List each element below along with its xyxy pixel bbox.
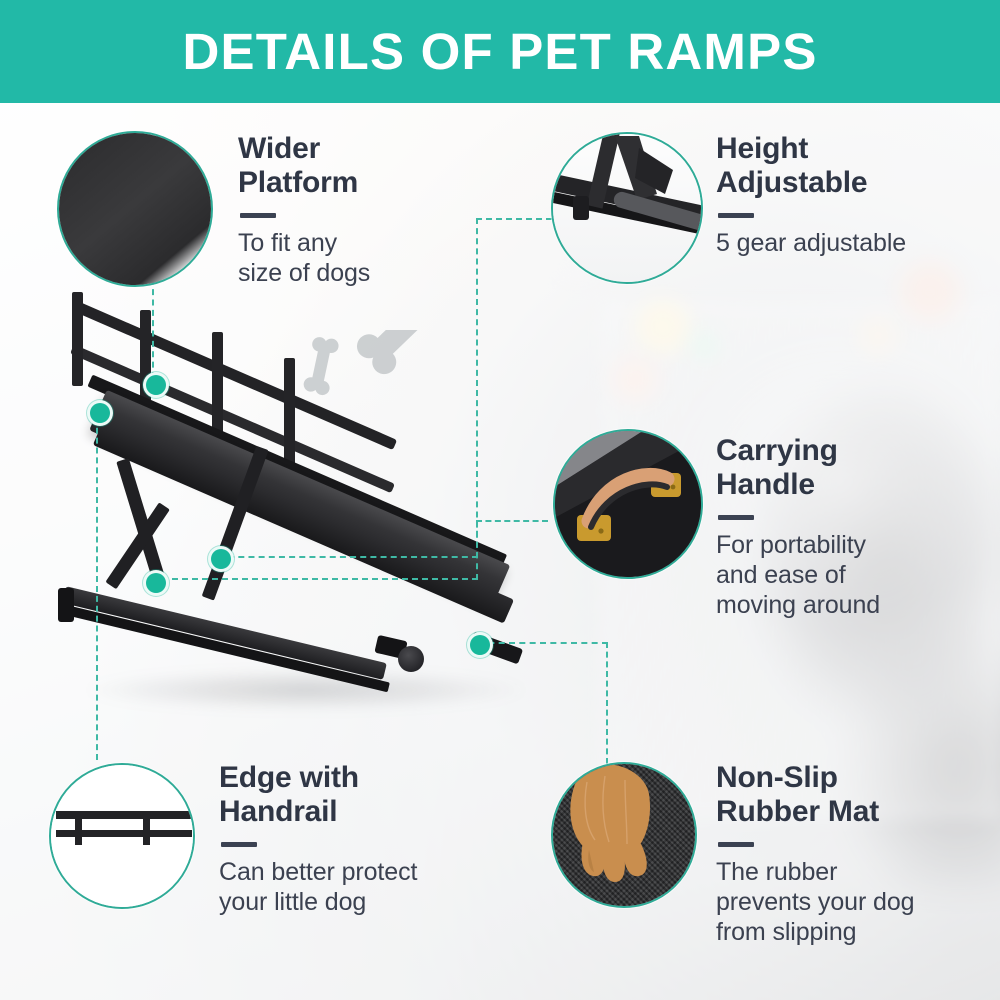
callout-edge-with-handrail: Edge with Handrail Can better protect yo… [219,761,499,917]
page-title: DETAILS OF PET RAMPS [182,26,817,77]
callout-wider-platform: Wider Platform To fit any size of dogs [238,132,448,288]
callout-title-edge-with-handrail: Edge with Handrail [219,761,499,829]
product-shadow [86,670,526,710]
callout-body-non-slip-rubber-mat: The rubber prevents your dog from slippi… [716,857,986,947]
marker-dot-rubber-mat [467,632,493,658]
callout-body-wider-platform: To fit any size of dogs [238,228,448,288]
marker-dot-edge-handrail [87,400,113,426]
header-banner: DETAILS OF PET RAMPS [0,0,1000,103]
marker-dot-wider-platform [143,372,169,398]
ramp-hinge [398,646,424,672]
thumbnail-wider-platform[interactable] [57,131,213,287]
thumbnail-handrail-schematic[interactable] [49,763,195,909]
callout-title-non-slip-rubber-mat: Non-Slip Rubber Mat [716,761,986,829]
infographic-page: DETAILS OF PET RAMPS [0,0,1000,1000]
wider-platform-photo [59,133,211,285]
base-frame-bar [62,586,387,680]
carrying-handle-photo [555,431,701,577]
paw-on-rubber-mat-photo [553,764,695,906]
base-foot-left [58,588,74,622]
thumbnail-carrying-handle[interactable] [553,429,703,579]
thumbnail-height-adjustable[interactable] [551,132,703,284]
marker-dot-height-adjustable [208,546,234,572]
handrail-post-1 [72,292,83,386]
callout-title-wider-platform: Wider Platform [238,132,448,200]
handrail-schematic-drawing [51,765,193,907]
thumbnail-paw-on-rubber-mat[interactable] [551,762,697,908]
callout-body-carrying-handle: For portability and ease of moving aroun… [716,530,966,620]
callout-height-adjustable: Height Adjustable 5 gear adjustable [716,132,981,258]
callout-divider [718,213,754,218]
callout-divider [221,842,257,847]
callout-divider [718,842,754,847]
callout-title-height-adjustable: Height Adjustable [716,132,981,200]
marker-dot-frame [143,570,169,596]
callout-body-height-adjustable: 5 gear adjustable [716,228,981,258]
callout-body-edge-with-handrail: Can better protect your little dog [219,857,499,917]
callout-non-slip-rubber-mat: Non-Slip Rubber Mat The rubber prevents … [716,761,986,947]
callout-divider [718,515,754,520]
callout-carrying-handle: Carrying Handle For portability and ease… [716,434,966,620]
callout-title-carrying-handle: Carrying Handle [716,434,966,502]
height-adjustable-photo [553,134,701,282]
callout-divider [240,213,276,218]
